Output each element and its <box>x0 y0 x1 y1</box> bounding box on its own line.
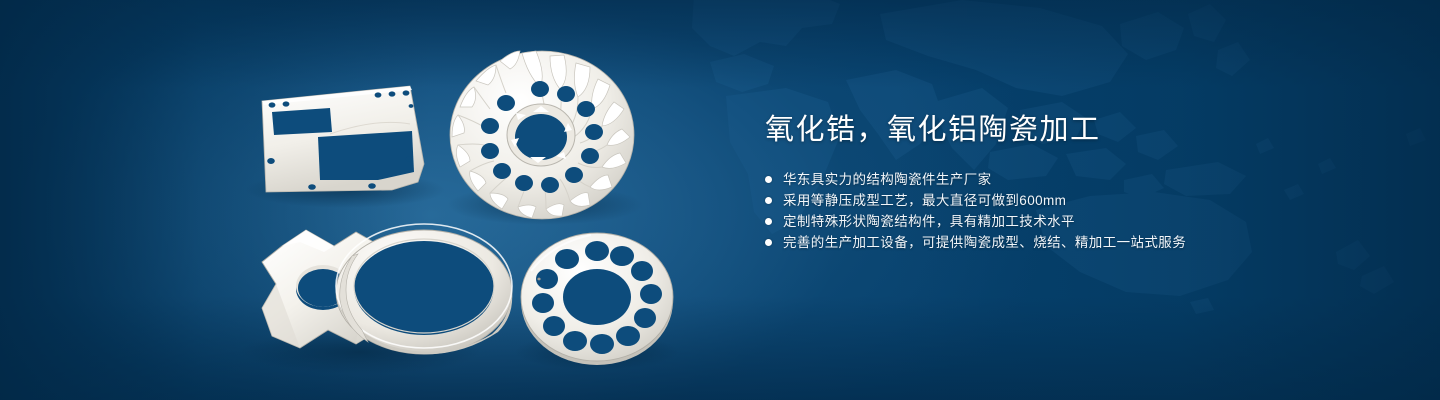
feature-text: 定制特殊形状陶瓷结构件，具有精加工技术水平 <box>783 211 1075 232</box>
feature-text: 华东具实力的结构陶瓷件生产厂家 <box>783 169 992 190</box>
hero-banner: 氧化锆，氧化铝陶瓷加工 华东具实力的结构陶瓷件生产厂家 采用等静压成型工艺，最大… <box>0 0 1440 400</box>
bullet-dot-icon <box>765 176 772 183</box>
feature-text: 采用等静压成型工艺，最大直径可做到600mm <box>783 190 1066 211</box>
list-item: 定制特殊形状陶瓷结构件，具有精加工技术水平 <box>765 211 1385 232</box>
ceramic-impeller-disc <box>450 51 634 219</box>
feature-list: 华东具实力的结构陶瓷件生产厂家 采用等静压成型工艺，最大直径可做到600mm 定… <box>765 169 1385 253</box>
bullet-dot-icon <box>765 239 772 246</box>
feature-text: 完善的生产加工设备，可提供陶瓷成型、烧结、精加工一站式服务 <box>783 232 1186 253</box>
product-showcase <box>0 0 720 400</box>
list-item: 采用等静压成型工艺，最大直径可做到600mm <box>765 190 1385 211</box>
page-title: 氧化锆，氧化铝陶瓷加工 <box>765 112 1385 148</box>
ceramic-machined-plate <box>262 86 424 192</box>
banner-text-block: 氧化锆，氧化铝陶瓷加工 华东具实力的结构陶瓷件生产厂家 采用等静压成型工艺，最大… <box>765 112 1385 253</box>
list-item: 完善的生产加工设备，可提供陶瓷成型、烧结、精加工一站式服务 <box>765 232 1385 253</box>
bullet-dot-icon <box>765 197 772 204</box>
list-item: 华东具实力的结构陶瓷件生产厂家 <box>765 169 1385 190</box>
ceramic-perforated-disc <box>521 233 673 365</box>
bullet-dot-icon <box>765 218 772 225</box>
